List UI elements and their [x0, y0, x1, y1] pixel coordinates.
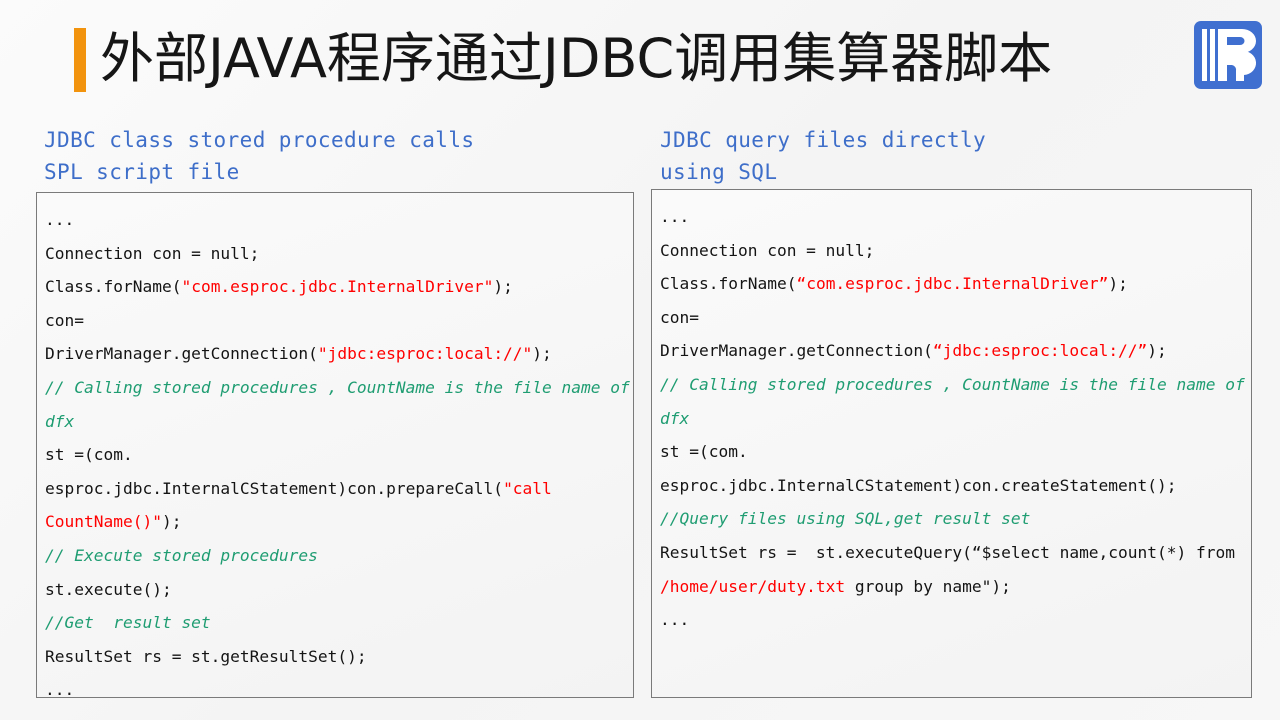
code-line: // Execute stored procedures	[45, 539, 633, 573]
code-token-plain: );	[162, 512, 182, 531]
code-block-stored-procedure: ...Connection con = null;Class.forName("…	[37, 193, 633, 698]
code-token-plain: );	[532, 344, 552, 363]
code-line: ...	[660, 200, 1251, 234]
code-line: st.execute();	[45, 573, 633, 607]
code-panel-sql-query: ...Connection con = null;Class.forName(“…	[651, 189, 1252, 698]
slide-header: 外部JAVA程序通过JDBC调用集算器脚本	[0, 0, 1280, 112]
code-line: esproc.jdbc.InternalCStatement)con.prepa…	[45, 472, 633, 539]
code-line: ...	[660, 603, 1251, 637]
code-token-comment: //Get result set	[45, 613, 211, 632]
code-token-plain: esproc.jdbc.InternalCStatement)con.prepa…	[45, 479, 503, 498]
code-token-plain: con=	[660, 308, 699, 327]
code-token-plain: st =(com.	[660, 442, 748, 461]
code-line: Connection con = null;	[45, 237, 633, 271]
code-line: con=	[45, 304, 633, 338]
code-token-path: /home/user/duty.txt	[660, 577, 845, 596]
code-token-str: "jdbc:esproc:local://"	[318, 344, 532, 363]
code-token-plain: ResultSet rs = st.getResultSet();	[45, 647, 367, 666]
code-token-plain: Connection con = null;	[45, 244, 259, 263]
code-token-plain: group by name");	[845, 577, 1011, 596]
code-token-plain: ...	[660, 610, 689, 629]
code-line: Connection con = null;	[660, 234, 1251, 268]
code-token-plain: Connection con = null;	[660, 241, 874, 260]
code-token-comment: // Execute stored procedures	[45, 546, 318, 565]
code-line: esproc.jdbc.InternalCStatement)con.creat…	[660, 469, 1251, 503]
code-line: ...	[45, 203, 633, 237]
code-line: ...	[45, 673, 633, 698]
code-token-str: “com.esproc.jdbc.InternalDriver”	[796, 274, 1108, 293]
raqsoft-logo-icon	[1192, 19, 1264, 91]
code-line: ResultSet rs = st.getResultSet();	[45, 640, 633, 674]
code-line: ResultSet rs = st.executeQuery(“$select …	[660, 536, 1251, 603]
code-line: con=	[660, 301, 1251, 335]
code-token-comment: //Query files using SQL,get result set	[660, 509, 1030, 528]
code-token-plain: ...	[660, 207, 689, 226]
code-line: DriverManager.getConnection(“jdbc:esproc…	[660, 334, 1251, 368]
code-token-plain: );	[1108, 274, 1128, 293]
code-token-comment: // Calling stored procedures , CountName…	[660, 375, 1252, 428]
code-token-plain: );	[1147, 341, 1167, 360]
code-token-comment: // Calling stored procedures , CountName…	[45, 378, 634, 431]
code-block-sql-query: ...Connection con = null;Class.forName(“…	[652, 190, 1251, 637]
code-panel-stored-procedure: ...Connection con = null;Class.forName("…	[36, 192, 634, 698]
code-token-str: “jdbc:esproc:local://”	[933, 341, 1147, 360]
column-jdbc-sql-query: JDBC query files directly using SQL	[658, 124, 1254, 190]
code-line: st =(com.	[660, 435, 1251, 469]
code-token-plain: esproc.jdbc.InternalCStatement)con.creat…	[660, 476, 1177, 495]
code-token-plain: );	[493, 277, 513, 296]
code-token-str: "com.esproc.jdbc.InternalDriver"	[181, 277, 493, 296]
code-token-plain: Class.forName(	[660, 274, 796, 293]
slide-canvas: 外部JAVA程序通过JDBC调用集算器脚本 JDBC class stored …	[0, 0, 1280, 720]
code-line: // Calling stored procedures , CountName…	[45, 371, 633, 438]
column-heading-left: JDBC class stored procedure calls SPL sc…	[42, 124, 636, 190]
page-title: 外部JAVA程序通过JDBC调用集算器脚本	[100, 20, 1052, 98]
code-line: Class.forName("com.esproc.jdbc.InternalD…	[45, 270, 633, 304]
code-line: DriverManager.getConnection("jdbc:esproc…	[45, 337, 633, 371]
code-token-plain: DriverManager.getConnection(	[45, 344, 318, 363]
code-token-plain: ...	[45, 680, 74, 698]
column-heading-right: JDBC query files directly using SQL	[658, 124, 1254, 190]
column-jdbc-stored-procedure: JDBC class stored procedure calls SPL sc…	[42, 124, 636, 190]
code-token-plain: ResultSet rs = st.executeQuery(“$select …	[660, 543, 1245, 562]
title-accent-bar	[74, 28, 86, 92]
code-token-plain: con=	[45, 311, 84, 330]
code-token-plain: DriverManager.getConnection(	[660, 341, 933, 360]
code-line: st =(com.	[45, 438, 633, 472]
code-line: Class.forName(“com.esproc.jdbc.InternalD…	[660, 267, 1251, 301]
code-token-plain: ...	[45, 210, 74, 229]
code-line: // Calling stored procedures , CountName…	[660, 368, 1251, 435]
code-line: //Query files using SQL,get result set	[660, 502, 1251, 536]
code-token-plain: Class.forName(	[45, 277, 181, 296]
code-token-plain: st =(com.	[45, 445, 133, 464]
code-token-plain: st.execute();	[45, 580, 172, 599]
code-line: //Get result set	[45, 606, 633, 640]
